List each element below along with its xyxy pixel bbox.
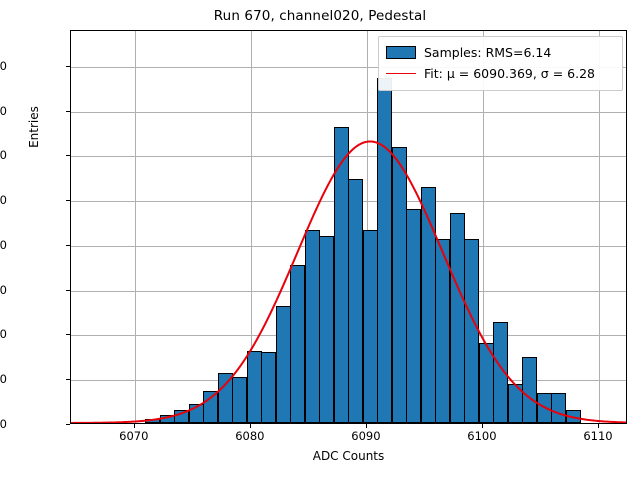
chart-title: Run 670, channel020, Pedestal [0, 8, 640, 24]
chart-legend: Samples: RMS=6.14 Fit: μ = 6090.369, σ =… [378, 36, 623, 91]
legend-label-samples: Samples: RMS=6.14 [424, 45, 551, 60]
x-axis-label: ADC Counts [70, 449, 627, 463]
y-tick-label: 500 [0, 193, 7, 207]
histogram-figure: Run 670, channel020, Pedestal Entries 01… [0, 0, 640, 480]
legend-line-swatch-icon [386, 73, 416, 74]
x-tick-label: 6110 [563, 429, 633, 443]
legend-patch-swatch-icon [386, 46, 416, 59]
x-tick-mark [598, 424, 599, 428]
fit-curve-path [71, 141, 626, 422]
y-tick-label: 700 [0, 104, 7, 118]
x-tick-label: 6070 [99, 429, 169, 443]
x-tick-label: 6080 [215, 429, 285, 443]
y-tick-mark [66, 424, 70, 425]
y-tick-label: 0 [0, 417, 7, 431]
legend-label-fit: Fit: μ = 6090.369, σ = 6.28 [424, 66, 595, 81]
y-tick-label: 800 [0, 59, 7, 73]
legend-entry-samples: Samples: RMS=6.14 [386, 42, 615, 63]
x-tick-label: 6090 [331, 429, 401, 443]
y-tick-label: 300 [0, 283, 7, 297]
y-tick-label: 100 [0, 372, 7, 386]
y-axis-label: Entries [27, 47, 41, 207]
x-tick-mark [250, 424, 251, 428]
x-tick-mark [366, 424, 367, 428]
y-tick-label: 600 [0, 148, 7, 162]
x-tick-label: 6100 [447, 429, 517, 443]
y-tick-label: 400 [0, 238, 7, 252]
legend-entry-fit: Fit: μ = 6090.369, σ = 6.28 [386, 63, 615, 84]
x-tick-mark [134, 424, 135, 428]
x-tick-mark [482, 424, 483, 428]
y-tick-label: 200 [0, 327, 7, 341]
